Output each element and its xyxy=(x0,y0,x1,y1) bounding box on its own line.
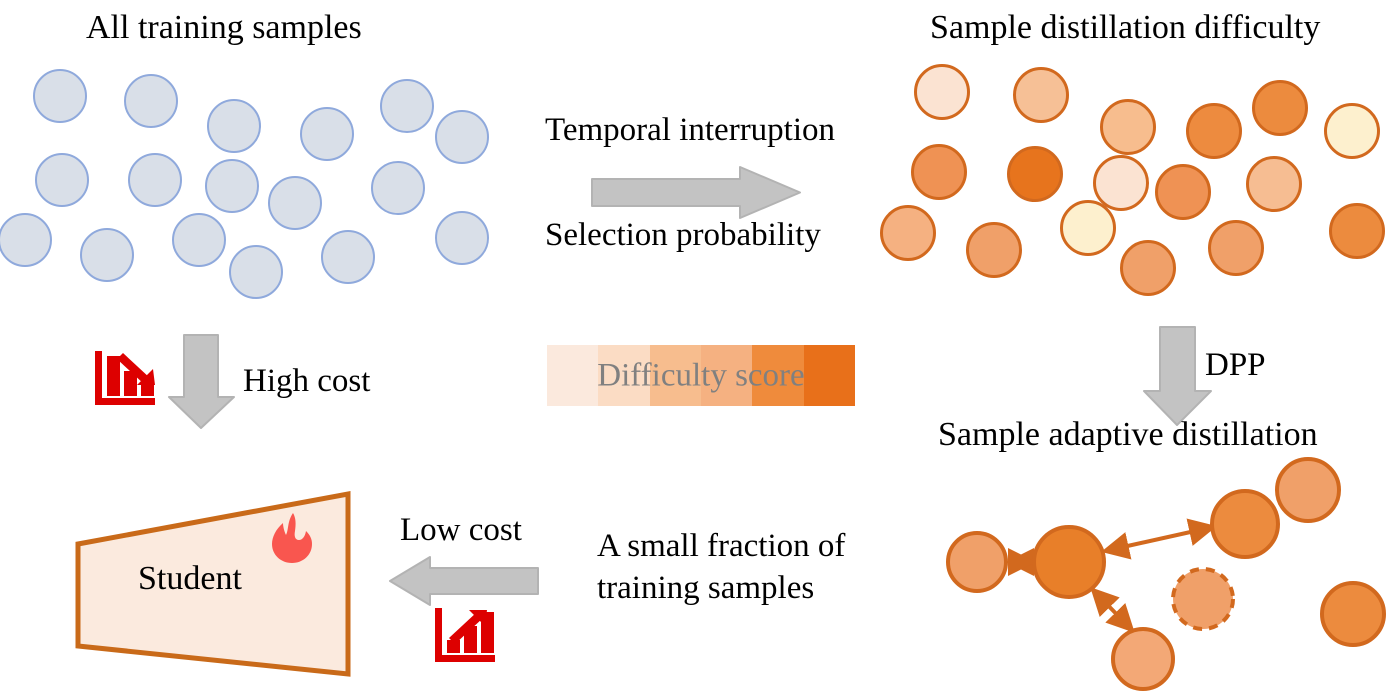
dpp-node-excluded xyxy=(1173,569,1233,629)
chart-increase-icon xyxy=(433,604,497,668)
dpp-node xyxy=(1113,629,1173,689)
student-label: Student xyxy=(138,560,242,598)
dpp-node xyxy=(1277,459,1339,521)
arrow-left-low-cost xyxy=(388,555,540,607)
flame-icon xyxy=(268,512,316,564)
dpp-node xyxy=(1322,583,1384,645)
label-small-fraction-line1: A small fraction of xyxy=(597,525,897,567)
student-model-box: Student xyxy=(70,484,360,684)
label-small-fraction: A small fraction of training samples xyxy=(597,525,897,609)
diagram-canvas: All training samples Sample distillation… xyxy=(0,0,1387,699)
dpp-node xyxy=(1212,491,1278,557)
label-small-fraction-line2: training samples xyxy=(597,567,897,609)
dpp-node xyxy=(948,533,1006,591)
dpp-link-arrow xyxy=(1105,527,1213,551)
dpp-link-arrow xyxy=(1093,590,1132,630)
dpp-node xyxy=(1034,527,1104,597)
label-low-cost: Low cost xyxy=(400,510,522,550)
